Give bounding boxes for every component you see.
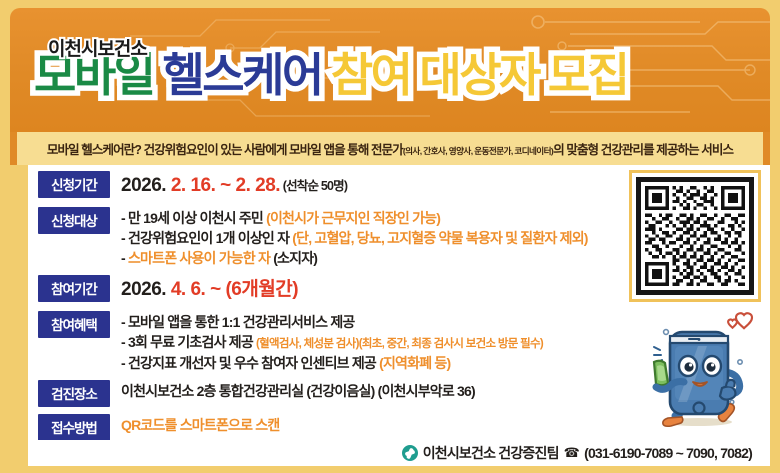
text-segment: 이천시보건소 2층 통합건강관리실 (건강이음실) (이천시부악로 36) xyxy=(121,383,475,399)
frame-bottom-strip xyxy=(10,440,28,466)
row-label-badge: 검진장소 xyxy=(38,380,110,407)
info-row: 참여혜택- 모바일 앱을 통한 1:1 건강관리서비스 제공- 3회 무료 기초… xyxy=(38,311,638,373)
row-label-badge: 접수방법 xyxy=(38,414,110,441)
text-segment: (이천시가 근무지인 직장인 가능) xyxy=(266,210,440,226)
row-line: - 스마트폰 사용이 가능한 자 (소지자) xyxy=(121,248,638,268)
qr-code[interactable] xyxy=(629,170,761,302)
row-label-badge: 신청대상 xyxy=(38,207,110,234)
organization-name: 이천시보건소 xyxy=(48,34,147,61)
poster-root: 이천시보건소 모바일 헬스케어 참여 대상자 모집 모바일 헬스케어란? 건강위… xyxy=(0,0,780,473)
info-row: 신청대상- 만 19세 이상 이천시 주민 (이천시가 근무지인 직장인 가능)… xyxy=(38,207,638,269)
definition-experts: (의사, 간호사, 영양사, 운동전문가, 코디네이터) xyxy=(403,146,553,156)
footer-organization: 이천시보건소 건강증진팀 xyxy=(423,443,559,463)
poster-header: 이천시보건소 모바일 헬스케어 참여 대상자 모집 xyxy=(10,8,770,132)
row-label-badge: 참여혜택 xyxy=(38,311,110,338)
definition-question: 모바일 헬스케어란? xyxy=(47,143,141,157)
text-segment: (혈액검사, 체성분 검사) xyxy=(256,338,359,350)
text-segment: 스마트폰 사용이 가능한 자 xyxy=(128,250,270,266)
text-segment: (지역화폐 등) xyxy=(379,355,450,371)
text-segment: (최초, 중간, 최종 검사시 보건소 방문 필수) xyxy=(359,338,543,350)
row-line: - 건강위험요인이 1개 이상인 자 (단, 고혈압, 당뇨, 고지혈증 약물 … xyxy=(121,228,638,248)
text-segment: 4. 6. ~ (6개월간) xyxy=(171,279,298,300)
health-center-logo-icon xyxy=(402,445,418,461)
row-line: 2026. 4. 6. ~ (6개월간) xyxy=(121,276,638,304)
footer-contact: 이천시보건소 건강증진팀 ☎ (031-6190-7089 ~ 7090, 70… xyxy=(28,440,770,466)
text-segment: 2. 16. ~ 2. 28. xyxy=(171,175,280,196)
text-segment: 2026. xyxy=(121,175,171,196)
title-word-5: 모집 xyxy=(548,52,628,99)
footer-phone-number: (031-6190-7089 ~ 7090, 7082) xyxy=(584,445,752,461)
definition-part2: 의 맞춤형 건강관리를 제공하는 서비스 xyxy=(553,143,733,157)
row-content: 2026. 4. 6. ~ (6개월간) xyxy=(121,275,638,304)
row-line: - 만 19세 이상 이천시 주민 (이천시가 근무지인 직장인 가능) xyxy=(121,208,638,228)
definition-part1: 건강위험요인이 있는 사람에게 모바일 앱을 통해 전문가 xyxy=(144,143,403,157)
text-segment: - 모바일 앱을 통한 1:1 건강관리서비스 제공 xyxy=(121,314,355,330)
text-segment: (단, 고혈압, 당뇨, 고지혈증 약물 복용자 및 질환자 제외) xyxy=(292,230,587,246)
text-segment: - 건강지표 개선자 및 우수 참여자 인센티브 제공 xyxy=(121,355,379,371)
row-content: 이천시보건소 2층 통합건강관리실 (건강이음실) (이천시부악로 36) xyxy=(121,380,638,401)
text-segment: - 만 19세 이상 이천시 주민 xyxy=(121,210,266,226)
banner-accent-bar-right xyxy=(763,132,770,165)
info-row: 신청기간2026. 2. 16. ~ 2. 28. (선착순 50명) xyxy=(38,171,638,200)
row-line: QR코드를 스마트폰으로 스캔 xyxy=(121,415,638,435)
row-label-badge: 참여기간 xyxy=(38,275,110,302)
row-content: - 만 19세 이상 이천시 주민 (이천시가 근무지인 직장인 가능)- 건강… xyxy=(121,207,638,269)
info-row: 검진장소이천시보건소 2층 통합건강관리실 (건강이음실) (이천시부악로 36… xyxy=(38,380,638,407)
row-line: - 모바일 앱을 통한 1:1 건강관리서비스 제공 xyxy=(121,312,638,332)
banner-accent-bar xyxy=(10,132,17,165)
row-content: - 모바일 앱을 통한 1:1 건강관리서비스 제공- 3회 무료 기초검사 제… xyxy=(121,311,638,373)
qr-matrix xyxy=(645,186,745,286)
row-line: 이천시보건소 2층 통합건강관리실 (건강이음실) (이천시부악로 36) xyxy=(121,381,638,401)
row-content: QR코드를 스마트폰으로 스캔 xyxy=(121,414,638,435)
text-segment: - 건강위험요인이 1개 이상인 자 xyxy=(121,230,292,246)
frame-left-strip xyxy=(10,165,28,440)
qr-code-image xyxy=(636,177,754,295)
row-line: - 건강지표 개선자 및 우수 참여자 인센티브 제공 (지역화폐 등) xyxy=(121,353,638,373)
text-segment: 2026. xyxy=(121,279,171,300)
row-label-badge: 신청기간 xyxy=(38,171,110,198)
info-row: 접수방법QR코드를 스마트폰으로 스캔 xyxy=(38,414,638,441)
telephone-icon: ☎ xyxy=(564,445,579,461)
title-word-4: 대상자 xyxy=(419,52,538,99)
row-line: - 3회 무료 기초검사 제공 (혈액검사, 체성분 검사)(최초, 중간, 최… xyxy=(121,332,638,353)
row-content: 2026. 2. 16. ~ 2. 28. (선착순 50명) xyxy=(121,171,638,200)
text-segment: (선착순 50명) xyxy=(280,179,347,193)
definition-banner: 모바일 헬스케어란? 건강위험요인이 있는 사람에게 모바일 앱을 통해 전문가… xyxy=(10,132,770,165)
title-word-3: 참여 xyxy=(331,52,411,99)
text-segment: (소지자) xyxy=(270,250,317,266)
title-word-2: 헬스케어 xyxy=(162,52,321,99)
text-segment: QR코드를 스마트폰으로 스캔 xyxy=(121,417,279,433)
text-segment: - xyxy=(121,250,128,266)
smartphone-mascot-icon xyxy=(636,306,762,432)
row-line: 2026. 2. 16. ~ 2. 28. (선착순 50명) xyxy=(121,172,638,200)
definition-text: 모바일 헬스케어란? 건강위험요인이 있는 사람에게 모바일 앱을 통해 전문가… xyxy=(17,139,763,158)
info-rows: 신청기간2026. 2. 16. ~ 2. 28. (선착순 50명)신청대상-… xyxy=(38,171,638,448)
text-segment: - 3회 무료 기초검사 제공 xyxy=(121,334,256,350)
info-row: 참여기간2026. 4. 6. ~ (6개월간) xyxy=(38,275,638,304)
